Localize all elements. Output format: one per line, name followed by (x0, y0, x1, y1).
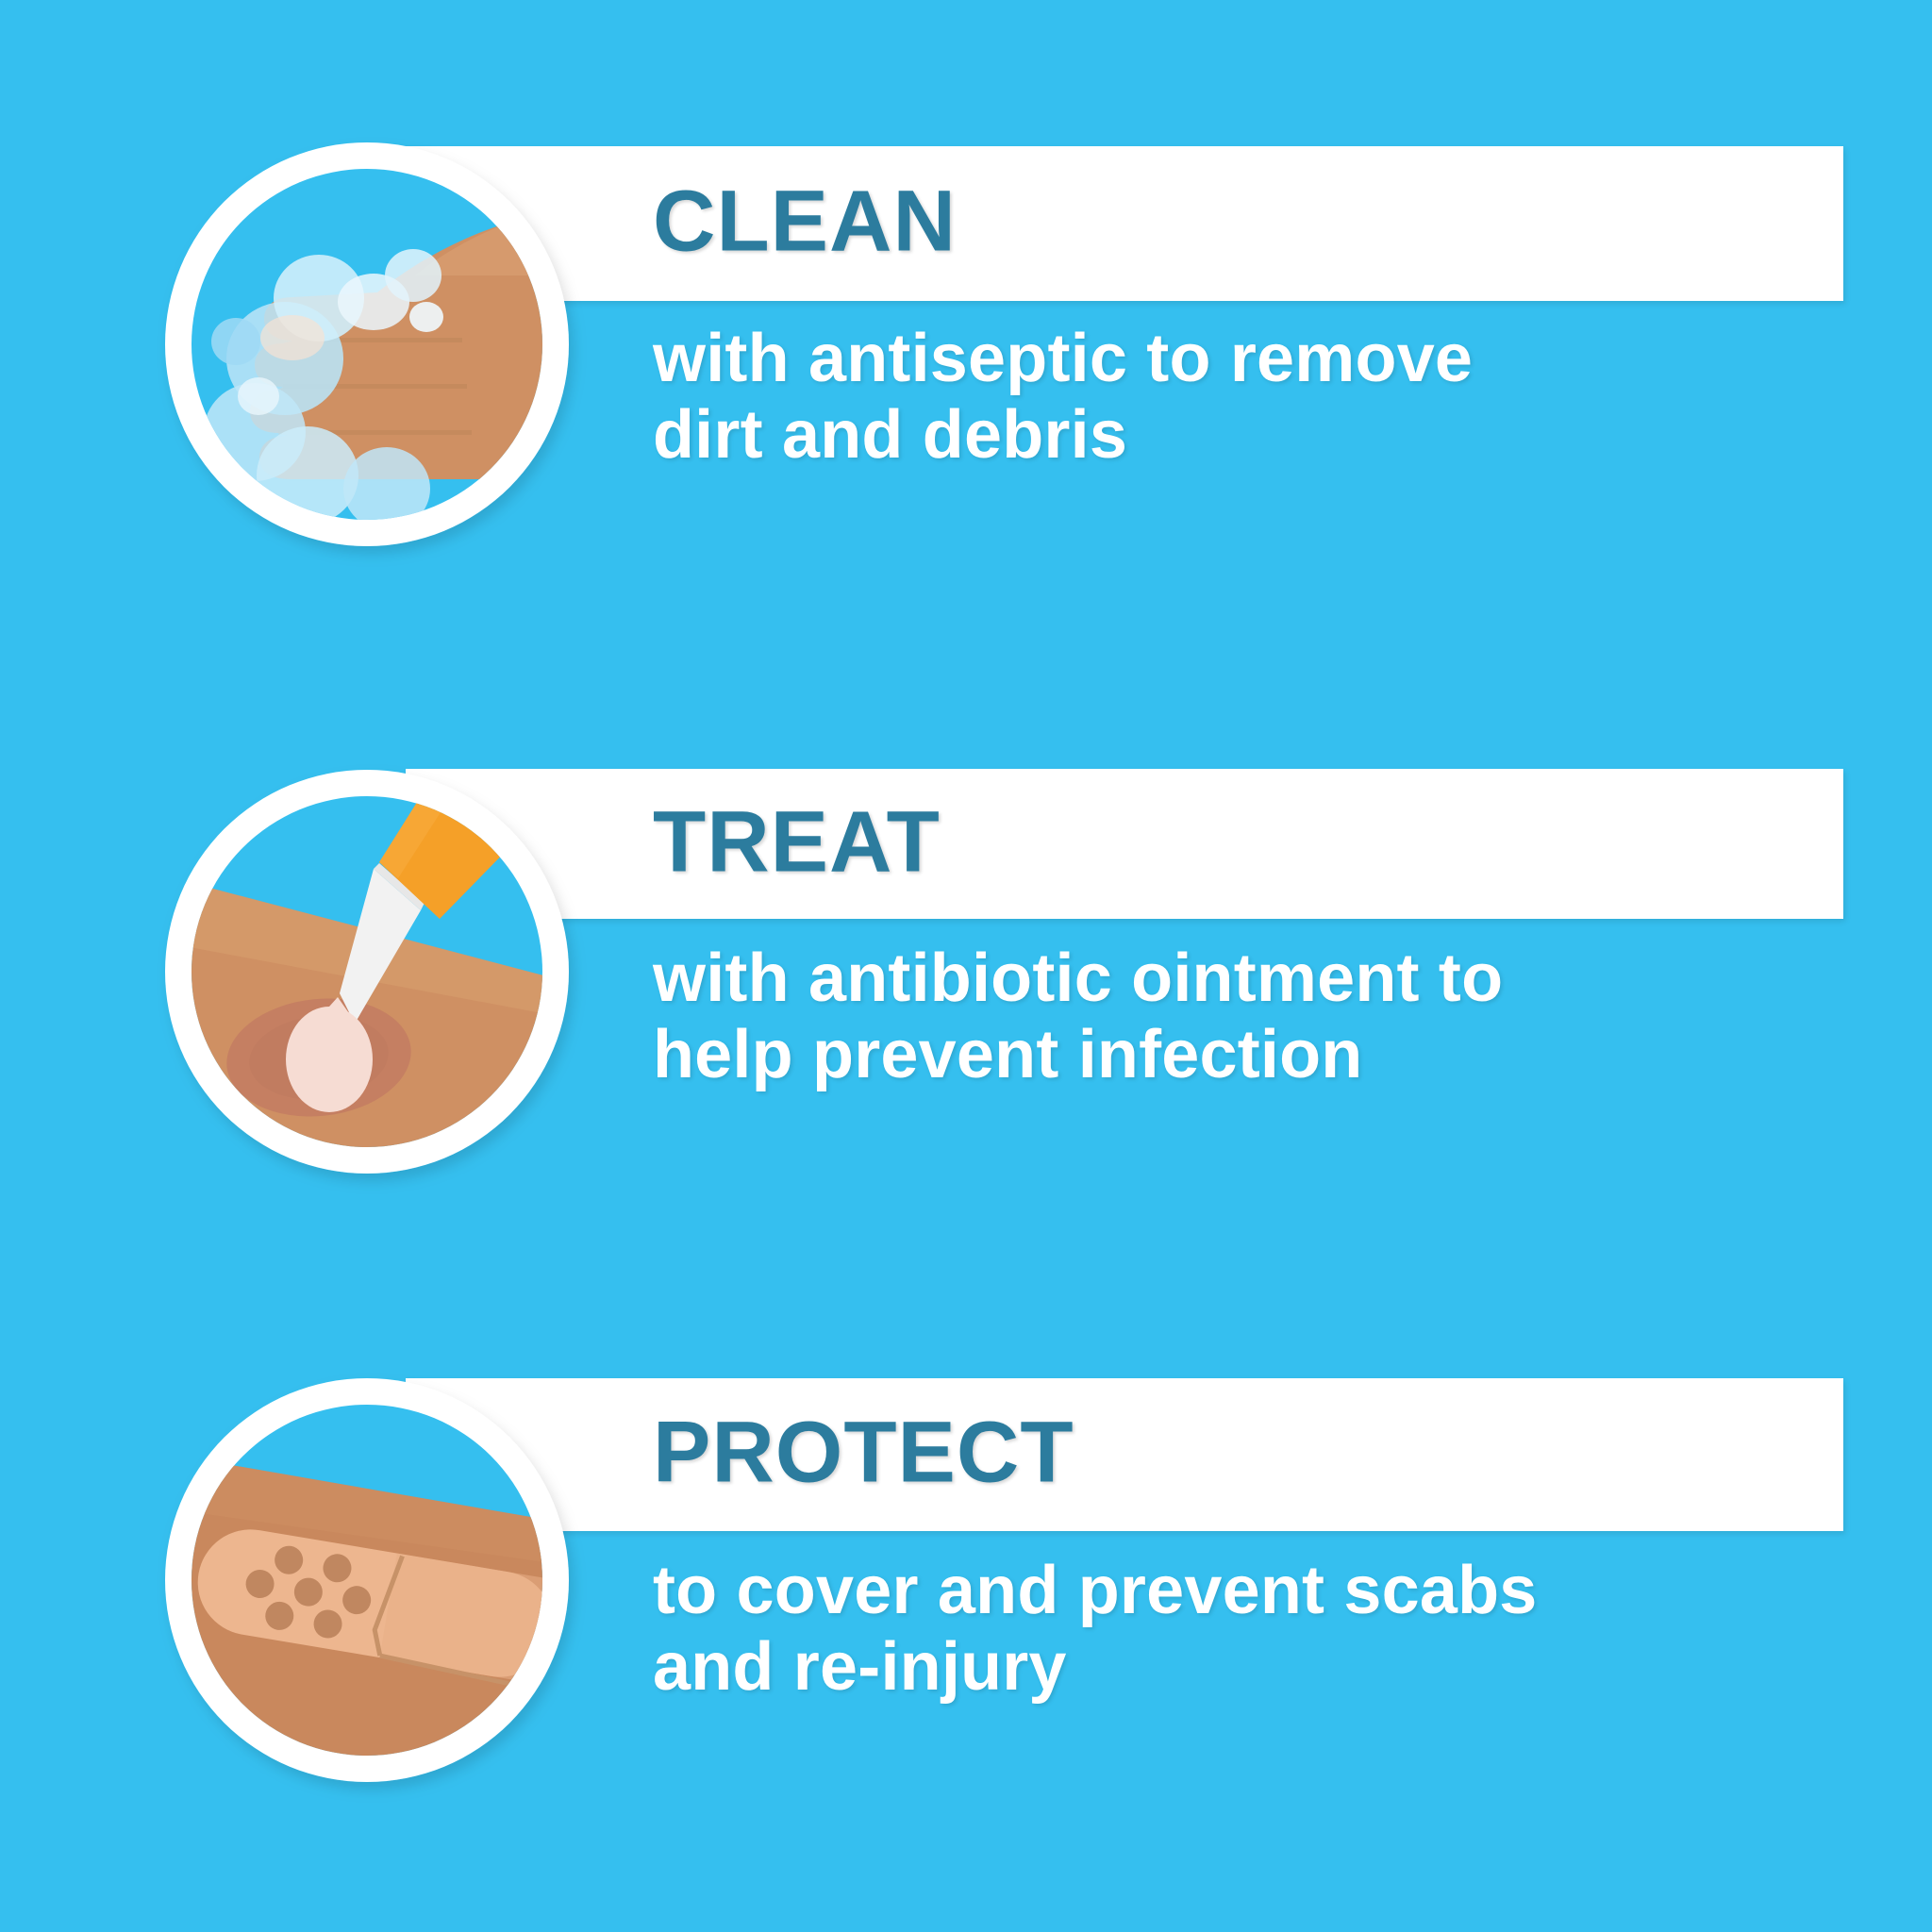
step-title-protect: PROTECT (653, 1403, 1074, 1502)
subtitle-line-1: with antibiotic ointment to (653, 941, 1879, 1017)
subtitle-line-1: to cover and prevent scabs (653, 1553, 1879, 1629)
title-band-clean: CLEAN (406, 146, 1843, 301)
step-subtitle-protect: to cover and prevent scabs and re-injury (653, 1553, 1879, 1707)
subtitle-line-2: dirt and debris (653, 397, 1879, 474)
step-subtitle-treat: with antibiotic ointment to help prevent… (653, 941, 1879, 1094)
step-treat: TREAT with antibiotic ointment to help p… (0, 731, 1932, 1222)
subtitle-line-2: help prevent infection (653, 1017, 1879, 1093)
ointment-tube-applying-to-wound-icon (142, 741, 592, 1203)
step-protect: PROTECT to cover and prevent scabs and r… (0, 1340, 1932, 1830)
adhesive-bandage-on-skin-icon (142, 1349, 592, 1811)
subtitle-line-1: with antiseptic to remove (653, 321, 1879, 397)
step-clean: CLEAN with antiseptic to remove dirt and… (0, 104, 1932, 594)
subtitle-line-2: and re-injury (653, 1629, 1879, 1706)
step-subtitle-clean: with antiseptic to remove dirt and debri… (653, 321, 1879, 475)
infographic-canvas: CLEAN with antiseptic to remove dirt and… (0, 0, 1932, 1932)
title-band-protect: PROTECT (406, 1378, 1843, 1531)
step-title-treat: TREAT (653, 792, 941, 891)
hand-washing-with-soap-bubbles-icon (142, 113, 592, 575)
title-band-treat: TREAT (406, 769, 1843, 919)
step-title-clean: CLEAN (653, 172, 957, 271)
